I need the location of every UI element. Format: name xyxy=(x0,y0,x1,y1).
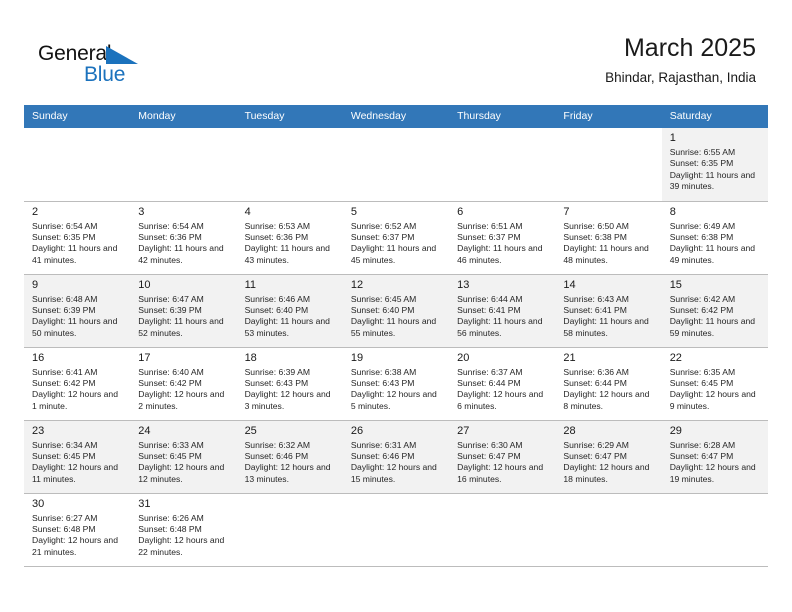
daylight-text: Daylight: 12 hours and 2 minutes. xyxy=(138,389,230,412)
day-cell-content: 18Sunrise: 6:39 AMSunset: 6:43 PMDayligh… xyxy=(237,348,343,420)
day-cell-content: 7Sunrise: 6:50 AMSunset: 6:38 PMDaylight… xyxy=(555,202,661,274)
daylight-text: Daylight: 11 hours and 53 minutes. xyxy=(245,316,337,339)
calendar-week-row: 2Sunrise: 6:54 AMSunset: 6:35 PMDaylight… xyxy=(24,201,768,274)
sunrise-text: Sunrise: 6:54 AM xyxy=(32,221,124,232)
calendar-cell-empty xyxy=(449,128,555,201)
day-cell-content: 9Sunrise: 6:48 AMSunset: 6:39 PMDaylight… xyxy=(24,275,130,347)
day-number: 2 xyxy=(32,205,124,219)
sunrise-text: Sunrise: 6:26 AM xyxy=(138,513,230,524)
calendar-day-cell[interactable]: 14Sunrise: 6:43 AMSunset: 6:41 PMDayligh… xyxy=(555,274,661,347)
daylight-text: Daylight: 12 hours and 5 minutes. xyxy=(351,389,443,412)
day-cell-content: 21Sunrise: 6:36 AMSunset: 6:44 PMDayligh… xyxy=(555,348,661,420)
day-number: 13 xyxy=(457,278,549,292)
sunrise-text: Sunrise: 6:34 AM xyxy=(32,440,124,451)
day-cell-content: 28Sunrise: 6:29 AMSunset: 6:47 PMDayligh… xyxy=(555,421,661,493)
day-cell-content: 30Sunrise: 6:27 AMSunset: 6:48 PMDayligh… xyxy=(24,494,130,566)
day-number: 5 xyxy=(351,205,443,219)
title-block: March 2025 Bhindar, Rajasthan, India xyxy=(605,33,756,88)
daylight-text: Daylight: 11 hours and 59 minutes. xyxy=(670,316,762,339)
sunset-text: Sunset: 6:44 PM xyxy=(457,378,549,389)
brand-name-blue: Blue xyxy=(84,63,125,87)
calendar-cell-empty xyxy=(449,493,555,566)
daylight-text: Daylight: 11 hours and 50 minutes. xyxy=(32,316,124,339)
day-number: 11 xyxy=(245,278,337,292)
daylight-text: Daylight: 11 hours and 58 minutes. xyxy=(563,316,655,339)
day-cell-content: 19Sunrise: 6:38 AMSunset: 6:43 PMDayligh… xyxy=(343,348,449,420)
calendar-day-cell[interactable]: 2Sunrise: 6:54 AMSunset: 6:35 PMDaylight… xyxy=(24,201,130,274)
sunset-text: Sunset: 6:39 PM xyxy=(138,305,230,316)
calendar-day-cell[interactable]: 8Sunrise: 6:49 AMSunset: 6:38 PMDaylight… xyxy=(662,201,768,274)
brand-logo[interactable]: General Blue xyxy=(38,42,168,90)
day-cell-content: 13Sunrise: 6:44 AMSunset: 6:41 PMDayligh… xyxy=(449,275,555,347)
day-number: 8 xyxy=(670,205,762,219)
calendar-day-cell[interactable]: 18Sunrise: 6:39 AMSunset: 6:43 PMDayligh… xyxy=(237,347,343,420)
calendar-week-row: 1Sunrise: 6:55 AMSunset: 6:35 PMDaylight… xyxy=(24,128,768,201)
sunset-text: Sunset: 6:46 PM xyxy=(245,451,337,462)
sunset-text: Sunset: 6:42 PM xyxy=(32,378,124,389)
day-cell-content: 24Sunrise: 6:33 AMSunset: 6:45 PMDayligh… xyxy=(130,421,236,493)
day-number: 12 xyxy=(351,278,443,292)
sunrise-text: Sunrise: 6:52 AM xyxy=(351,221,443,232)
calendar-day-cell[interactable]: 24Sunrise: 6:33 AMSunset: 6:45 PMDayligh… xyxy=(130,420,236,493)
sunset-text: Sunset: 6:44 PM xyxy=(563,378,655,389)
sunset-text: Sunset: 6:45 PM xyxy=(138,451,230,462)
day-cell-content: 3Sunrise: 6:54 AMSunset: 6:36 PMDaylight… xyxy=(130,202,236,274)
daylight-text: Daylight: 12 hours and 16 minutes. xyxy=(457,462,549,485)
weekday-header-saturday: Saturday xyxy=(662,105,768,128)
daylight-text: Daylight: 12 hours and 11 minutes. xyxy=(32,462,124,485)
day-number: 16 xyxy=(32,351,124,365)
calendar-day-cell[interactable]: 12Sunrise: 6:45 AMSunset: 6:40 PMDayligh… xyxy=(343,274,449,347)
calendar-cell-empty xyxy=(237,493,343,566)
daylight-text: Daylight: 12 hours and 21 minutes. xyxy=(32,535,124,558)
calendar-day-cell[interactable]: 11Sunrise: 6:46 AMSunset: 6:40 PMDayligh… xyxy=(237,274,343,347)
weekday-header-wednesday: Wednesday xyxy=(343,105,449,128)
day-number: 22 xyxy=(670,351,762,365)
calendar-day-cell[interactable]: 31Sunrise: 6:26 AMSunset: 6:48 PMDayligh… xyxy=(130,493,236,566)
day-cell-content: 20Sunrise: 6:37 AMSunset: 6:44 PMDayligh… xyxy=(449,348,555,420)
sunset-text: Sunset: 6:43 PM xyxy=(245,378,337,389)
day-number: 28 xyxy=(563,424,655,438)
calendar-day-cell[interactable]: 4Sunrise: 6:53 AMSunset: 6:36 PMDaylight… xyxy=(237,201,343,274)
day-cell-content: 17Sunrise: 6:40 AMSunset: 6:42 PMDayligh… xyxy=(130,348,236,420)
sunrise-text: Sunrise: 6:37 AM xyxy=(457,367,549,378)
daylight-text: Daylight: 12 hours and 3 minutes. xyxy=(245,389,337,412)
sunset-text: Sunset: 6:43 PM xyxy=(351,378,443,389)
calendar-day-cell[interactable]: 13Sunrise: 6:44 AMSunset: 6:41 PMDayligh… xyxy=(449,274,555,347)
daylight-text: Daylight: 11 hours and 46 minutes. xyxy=(457,243,549,266)
sunrise-text: Sunrise: 6:29 AM xyxy=(563,440,655,451)
calendar-cell-empty xyxy=(24,128,130,201)
sunset-text: Sunset: 6:40 PM xyxy=(245,305,337,316)
day-cell-content: 23Sunrise: 6:34 AMSunset: 6:45 PMDayligh… xyxy=(24,421,130,493)
calendar-week-row: 23Sunrise: 6:34 AMSunset: 6:45 PMDayligh… xyxy=(24,420,768,493)
daylight-text: Daylight: 11 hours and 43 minutes. xyxy=(245,243,337,266)
day-cell-content: 15Sunrise: 6:42 AMSunset: 6:42 PMDayligh… xyxy=(662,275,768,347)
day-cell-content: 16Sunrise: 6:41 AMSunset: 6:42 PMDayligh… xyxy=(24,348,130,420)
daylight-text: Daylight: 12 hours and 6 minutes. xyxy=(457,389,549,412)
calendar-cell-empty xyxy=(343,493,449,566)
day-number: 30 xyxy=(32,497,124,511)
day-cell-content: 25Sunrise: 6:32 AMSunset: 6:46 PMDayligh… xyxy=(237,421,343,493)
calendar-week-row: 30Sunrise: 6:27 AMSunset: 6:48 PMDayligh… xyxy=(24,493,768,566)
daylight-text: Daylight: 12 hours and 9 minutes. xyxy=(670,389,762,412)
daylight-text: Daylight: 11 hours and 45 minutes. xyxy=(351,243,443,266)
calendar-day-cell[interactable]: 1Sunrise: 6:55 AMSunset: 6:35 PMDaylight… xyxy=(662,128,768,201)
daylight-text: Daylight: 12 hours and 13 minutes. xyxy=(245,462,337,485)
day-cell-content: 1Sunrise: 6:55 AMSunset: 6:35 PMDaylight… xyxy=(662,128,768,201)
sunrise-text: Sunrise: 6:45 AM xyxy=(351,294,443,305)
sunset-text: Sunset: 6:45 PM xyxy=(32,451,124,462)
page-title: March 2025 xyxy=(605,33,756,63)
sunrise-text: Sunrise: 6:44 AM xyxy=(457,294,549,305)
day-number: 25 xyxy=(245,424,337,438)
calendar-cell-empty xyxy=(555,128,661,201)
sunset-text: Sunset: 6:42 PM xyxy=(138,378,230,389)
daylight-text: Daylight: 11 hours and 42 minutes. xyxy=(138,243,230,266)
day-cell-content: 14Sunrise: 6:43 AMSunset: 6:41 PMDayligh… xyxy=(555,275,661,347)
day-cell-content: 6Sunrise: 6:51 AMSunset: 6:37 PMDaylight… xyxy=(449,202,555,274)
daylight-text: Daylight: 11 hours and 48 minutes. xyxy=(563,243,655,266)
calendar-day-cell[interactable]: 7Sunrise: 6:50 AMSunset: 6:38 PMDaylight… xyxy=(555,201,661,274)
calendar-body: 1Sunrise: 6:55 AMSunset: 6:35 PMDaylight… xyxy=(24,128,768,566)
daylight-text: Daylight: 12 hours and 15 minutes. xyxy=(351,462,443,485)
day-number: 1 xyxy=(670,131,762,145)
day-number: 14 xyxy=(563,278,655,292)
sunset-text: Sunset: 6:41 PM xyxy=(457,305,549,316)
day-cell-content: 11Sunrise: 6:46 AMSunset: 6:40 PMDayligh… xyxy=(237,275,343,347)
sunrise-text: Sunrise: 6:42 AM xyxy=(670,294,762,305)
calendar-day-cell[interactable]: 28Sunrise: 6:29 AMSunset: 6:47 PMDayligh… xyxy=(555,420,661,493)
day-number: 6 xyxy=(457,205,549,219)
calendar-table: Sunday Monday Tuesday Wednesday Thursday… xyxy=(24,105,768,567)
day-cell-content: 4Sunrise: 6:53 AMSunset: 6:36 PMDaylight… xyxy=(237,202,343,274)
calendar-day-cell[interactable]: 22Sunrise: 6:35 AMSunset: 6:45 PMDayligh… xyxy=(662,347,768,420)
sunrise-text: Sunrise: 6:30 AM xyxy=(457,440,549,451)
sunrise-text: Sunrise: 6:40 AM xyxy=(138,367,230,378)
calendar-page: General Blue March 2025 Bhindar, Rajasth… xyxy=(0,0,792,612)
sunset-text: Sunset: 6:37 PM xyxy=(457,232,549,243)
day-number: 20 xyxy=(457,351,549,365)
sunrise-text: Sunrise: 6:51 AM xyxy=(457,221,549,232)
calendar-cell-empty xyxy=(662,493,768,566)
calendar-day-cell[interactable]: 27Sunrise: 6:30 AMSunset: 6:47 PMDayligh… xyxy=(449,420,555,493)
day-number: 18 xyxy=(245,351,337,365)
calendar-day-cell[interactable]: 9Sunrise: 6:48 AMSunset: 6:39 PMDaylight… xyxy=(24,274,130,347)
day-number: 27 xyxy=(457,424,549,438)
sunset-text: Sunset: 6:48 PM xyxy=(138,524,230,535)
day-number: 24 xyxy=(138,424,230,438)
sunset-text: Sunset: 6:47 PM xyxy=(457,451,549,462)
day-number: 29 xyxy=(670,424,762,438)
sunrise-text: Sunrise: 6:38 AM xyxy=(351,367,443,378)
calendar-day-cell[interactable]: 16Sunrise: 6:41 AMSunset: 6:42 PMDayligh… xyxy=(24,347,130,420)
calendar-day-cell[interactable]: 19Sunrise: 6:38 AMSunset: 6:43 PMDayligh… xyxy=(343,347,449,420)
sunrise-text: Sunrise: 6:32 AM xyxy=(245,440,337,451)
calendar-day-cell[interactable]: 20Sunrise: 6:37 AMSunset: 6:44 PMDayligh… xyxy=(449,347,555,420)
daylight-text: Daylight: 12 hours and 8 minutes. xyxy=(563,389,655,412)
sunset-text: Sunset: 6:47 PM xyxy=(670,451,762,462)
sunrise-text: Sunrise: 6:54 AM xyxy=(138,221,230,232)
sunrise-text: Sunrise: 6:31 AM xyxy=(351,440,443,451)
sunset-text: Sunset: 6:36 PM xyxy=(138,232,230,243)
calendar-day-cell[interactable]: 25Sunrise: 6:32 AMSunset: 6:46 PMDayligh… xyxy=(237,420,343,493)
calendar-week-row: 9Sunrise: 6:48 AMSunset: 6:39 PMDaylight… xyxy=(24,274,768,347)
day-number: 15 xyxy=(670,278,762,292)
calendar-cell-empty xyxy=(130,128,236,201)
sunset-text: Sunset: 6:46 PM xyxy=(351,451,443,462)
calendar-cell-empty xyxy=(555,493,661,566)
weekday-header-sunday: Sunday xyxy=(24,105,130,128)
sunrise-text: Sunrise: 6:35 AM xyxy=(670,367,762,378)
sunrise-text: Sunrise: 6:41 AM xyxy=(32,367,124,378)
sunset-text: Sunset: 6:38 PM xyxy=(670,232,762,243)
day-number: 23 xyxy=(32,424,124,438)
weekday-header-monday: Monday xyxy=(130,105,236,128)
calendar-cell-empty xyxy=(343,128,449,201)
day-cell-content: 12Sunrise: 6:45 AMSunset: 6:40 PMDayligh… xyxy=(343,275,449,347)
daylight-text: Daylight: 12 hours and 1 minute. xyxy=(32,389,124,412)
sunrise-text: Sunrise: 6:49 AM xyxy=(670,221,762,232)
daylight-text: Daylight: 12 hours and 22 minutes. xyxy=(138,535,230,558)
sunset-text: Sunset: 6:48 PM xyxy=(32,524,124,535)
sunset-text: Sunset: 6:38 PM xyxy=(563,232,655,243)
sunset-text: Sunset: 6:37 PM xyxy=(351,232,443,243)
sunset-text: Sunset: 6:35 PM xyxy=(670,158,762,169)
day-number: 21 xyxy=(563,351,655,365)
calendar-day-cell[interactable]: 15Sunrise: 6:42 AMSunset: 6:42 PMDayligh… xyxy=(662,274,768,347)
daylight-text: Daylight: 11 hours and 56 minutes. xyxy=(457,316,549,339)
location-subtitle: Bhindar, Rajasthan, India xyxy=(605,68,756,88)
daylight-text: Daylight: 11 hours and 49 minutes. xyxy=(670,243,762,266)
calendar-day-cell[interactable]: 26Sunrise: 6:31 AMSunset: 6:46 PMDayligh… xyxy=(343,420,449,493)
sunset-text: Sunset: 6:42 PM xyxy=(670,305,762,316)
page-header: General Blue March 2025 Bhindar, Rajasth… xyxy=(0,0,792,104)
sunrise-text: Sunrise: 6:46 AM xyxy=(245,294,337,305)
sunset-text: Sunset: 6:40 PM xyxy=(351,305,443,316)
sunrise-text: Sunrise: 6:28 AM xyxy=(670,440,762,451)
weekday-header-tuesday: Tuesday xyxy=(237,105,343,128)
sunrise-text: Sunrise: 6:55 AM xyxy=(670,147,762,158)
weekday-header-thursday: Thursday xyxy=(449,105,555,128)
day-number: 26 xyxy=(351,424,443,438)
daylight-text: Daylight: 12 hours and 18 minutes. xyxy=(563,462,655,485)
calendar-day-cell[interactable]: 21Sunrise: 6:36 AMSunset: 6:44 PMDayligh… xyxy=(555,347,661,420)
calendar-day-cell[interactable]: 10Sunrise: 6:47 AMSunset: 6:39 PMDayligh… xyxy=(130,274,236,347)
calendar-day-cell[interactable]: 30Sunrise: 6:27 AMSunset: 6:48 PMDayligh… xyxy=(24,493,130,566)
sunrise-text: Sunrise: 6:39 AM xyxy=(245,367,337,378)
sunset-text: Sunset: 6:36 PM xyxy=(245,232,337,243)
sunrise-text: Sunrise: 6:36 AM xyxy=(563,367,655,378)
day-cell-content: 8Sunrise: 6:49 AMSunset: 6:38 PMDaylight… xyxy=(662,202,768,274)
daylight-text: Daylight: 11 hours and 52 minutes. xyxy=(138,316,230,339)
sunset-text: Sunset: 6:39 PM xyxy=(32,305,124,316)
day-cell-content: 27Sunrise: 6:30 AMSunset: 6:47 PMDayligh… xyxy=(449,421,555,493)
day-number: 3 xyxy=(138,205,230,219)
day-number: 17 xyxy=(138,351,230,365)
sunset-text: Sunset: 6:47 PM xyxy=(563,451,655,462)
day-cell-content: 10Sunrise: 6:47 AMSunset: 6:39 PMDayligh… xyxy=(130,275,236,347)
calendar-day-cell[interactable]: 6Sunrise: 6:51 AMSunset: 6:37 PMDaylight… xyxy=(449,201,555,274)
day-number: 31 xyxy=(138,497,230,511)
calendar-day-cell[interactable]: 3Sunrise: 6:54 AMSunset: 6:36 PMDaylight… xyxy=(130,201,236,274)
day-number: 9 xyxy=(32,278,124,292)
sunset-text: Sunset: 6:45 PM xyxy=(670,378,762,389)
calendar-week-row: 16Sunrise: 6:41 AMSunset: 6:42 PMDayligh… xyxy=(24,347,768,420)
daylight-text: Daylight: 11 hours and 39 minutes. xyxy=(670,170,762,193)
sunrise-text: Sunrise: 6:48 AM xyxy=(32,294,124,305)
calendar-cell-empty xyxy=(237,128,343,201)
calendar-day-cell[interactable]: 17Sunrise: 6:40 AMSunset: 6:42 PMDayligh… xyxy=(130,347,236,420)
sunrise-text: Sunrise: 6:43 AM xyxy=(563,294,655,305)
sunset-text: Sunset: 6:35 PM xyxy=(32,232,124,243)
weekday-header-row: Sunday Monday Tuesday Wednesday Thursday… xyxy=(24,105,768,128)
day-cell-content: 29Sunrise: 6:28 AMSunset: 6:47 PMDayligh… xyxy=(662,421,768,493)
weekday-header-friday: Friday xyxy=(555,105,661,128)
sunrise-text: Sunrise: 6:33 AM xyxy=(138,440,230,451)
sunrise-text: Sunrise: 6:27 AM xyxy=(32,513,124,524)
daylight-text: Daylight: 11 hours and 55 minutes. xyxy=(351,316,443,339)
calendar-day-cell[interactable]: 5Sunrise: 6:52 AMSunset: 6:37 PMDaylight… xyxy=(343,201,449,274)
day-number: 7 xyxy=(563,205,655,219)
day-cell-content: 2Sunrise: 6:54 AMSunset: 6:35 PMDaylight… xyxy=(24,202,130,274)
sunset-text: Sunset: 6:41 PM xyxy=(563,305,655,316)
calendar-day-cell[interactable]: 23Sunrise: 6:34 AMSunset: 6:45 PMDayligh… xyxy=(24,420,130,493)
day-cell-content: 5Sunrise: 6:52 AMSunset: 6:37 PMDaylight… xyxy=(343,202,449,274)
daylight-text: Daylight: 11 hours and 41 minutes. xyxy=(32,243,124,266)
sunrise-text: Sunrise: 6:50 AM xyxy=(563,221,655,232)
day-number: 10 xyxy=(138,278,230,292)
day-number: 4 xyxy=(245,205,337,219)
day-cell-content: 22Sunrise: 6:35 AMSunset: 6:45 PMDayligh… xyxy=(662,348,768,420)
day-number: 19 xyxy=(351,351,443,365)
sunrise-text: Sunrise: 6:53 AM xyxy=(245,221,337,232)
sunrise-text: Sunrise: 6:47 AM xyxy=(138,294,230,305)
daylight-text: Daylight: 12 hours and 12 minutes. xyxy=(138,462,230,485)
calendar-day-cell[interactable]: 29Sunrise: 6:28 AMSunset: 6:47 PMDayligh… xyxy=(662,420,768,493)
day-cell-content: 26Sunrise: 6:31 AMSunset: 6:46 PMDayligh… xyxy=(343,421,449,493)
day-cell-content: 31Sunrise: 6:26 AMSunset: 6:48 PMDayligh… xyxy=(130,494,236,566)
daylight-text: Daylight: 12 hours and 19 minutes. xyxy=(670,462,762,485)
